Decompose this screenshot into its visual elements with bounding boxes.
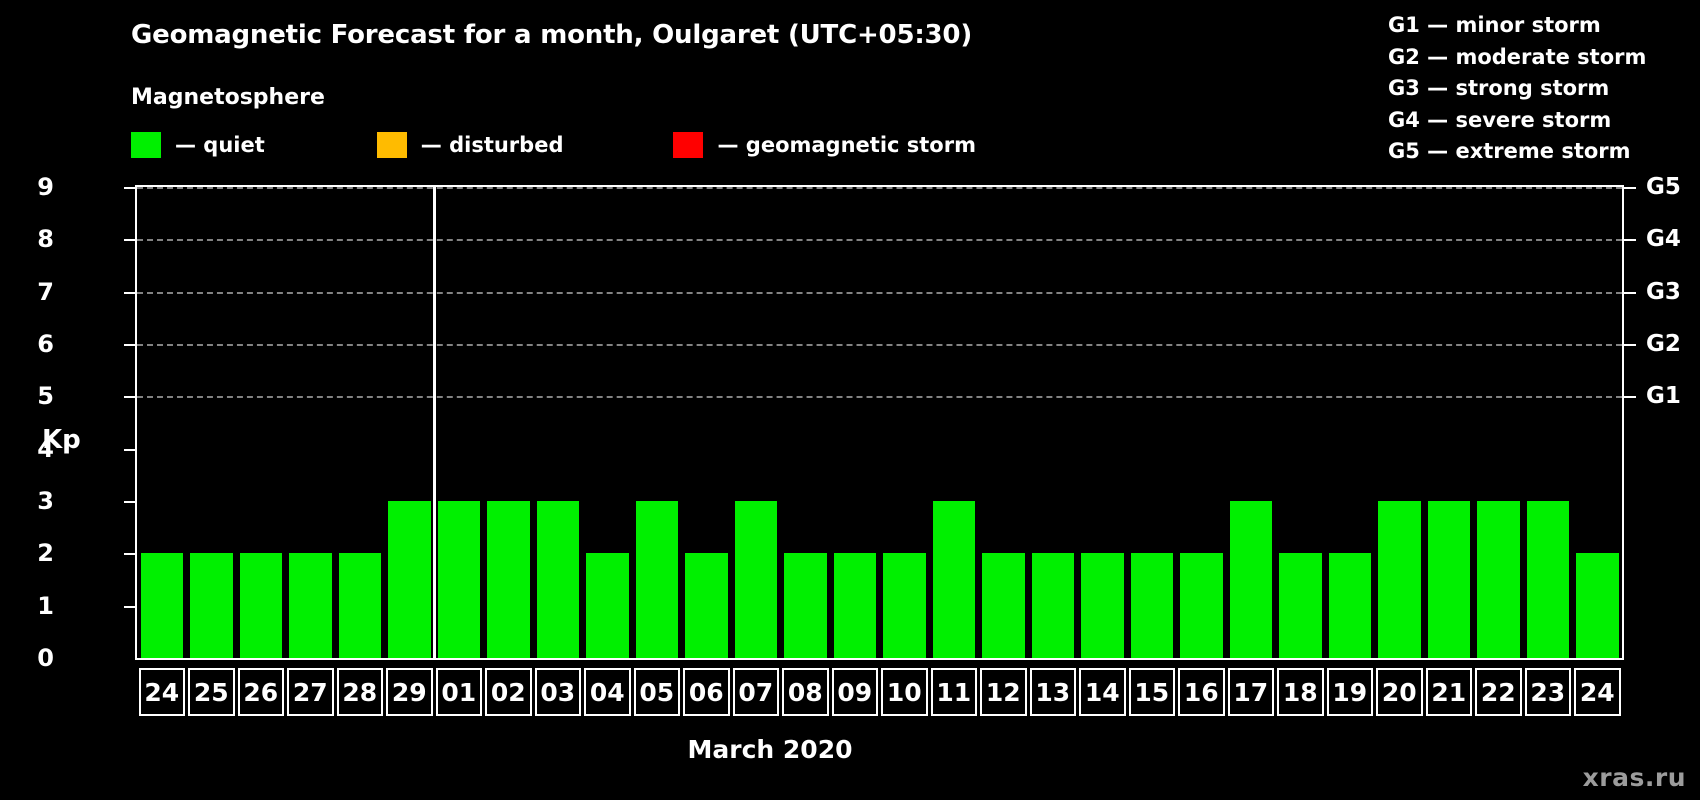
bar-11[interactable] bbox=[933, 501, 976, 658]
date-cell-1[interactable]: 25 bbox=[188, 668, 235, 716]
y-tick-mark-7 bbox=[124, 292, 135, 294]
y-tick-label-3: 3 bbox=[14, 487, 54, 515]
y-tick-mark-2 bbox=[124, 553, 135, 555]
gscale-legend-line-4: G4 — severe storm bbox=[1388, 105, 1688, 137]
bar-05[interactable] bbox=[636, 501, 679, 658]
bar-23[interactable] bbox=[1527, 501, 1570, 658]
g-tick-label-G3: G3 bbox=[1646, 279, 1681, 305]
legend-swatch-icon bbox=[377, 132, 407, 158]
bar-18[interactable] bbox=[1279, 553, 1322, 658]
y-tick-label-5: 5 bbox=[14, 382, 54, 410]
y-tick-mark-9 bbox=[124, 187, 135, 189]
bar-20[interactable] bbox=[1378, 501, 1421, 658]
bar-08[interactable] bbox=[784, 553, 827, 658]
g-tick-mark-G3 bbox=[1624, 292, 1636, 294]
date-cell-18[interactable]: 13 bbox=[1030, 668, 1077, 716]
geomagnetic-forecast-chart: Geomagnetic Forecast for a month, Oulgar… bbox=[0, 0, 1700, 800]
legend-item-2: — geomagnetic storm bbox=[673, 132, 976, 158]
date-cell-15[interactable]: 10 bbox=[881, 668, 928, 716]
legend-swatch-icon bbox=[673, 132, 703, 158]
bar-16[interactable] bbox=[1180, 553, 1223, 658]
bar-26[interactable] bbox=[240, 553, 283, 658]
date-cell-21[interactable]: 16 bbox=[1178, 668, 1225, 716]
bar-10[interactable] bbox=[883, 553, 926, 658]
bars-layer bbox=[137, 187, 1622, 658]
date-cell-5[interactable]: 29 bbox=[386, 668, 433, 716]
bar-14[interactable] bbox=[1081, 553, 1124, 658]
legend-item-0: — quiet bbox=[131, 132, 265, 158]
date-cell-13[interactable]: 08 bbox=[782, 668, 829, 716]
y-tick-label-2: 2 bbox=[14, 539, 54, 567]
g-tick-mark-G2 bbox=[1624, 344, 1636, 346]
date-cell-7[interactable]: 02 bbox=[485, 668, 532, 716]
date-cell-3[interactable]: 27 bbox=[287, 668, 334, 716]
bar-13[interactable] bbox=[1032, 553, 1075, 658]
bar-28[interactable] bbox=[339, 553, 382, 658]
x-axis-title: March 2020 bbox=[0, 735, 1700, 764]
gscale-legend-line-3: G3 — strong storm bbox=[1388, 73, 1688, 105]
bar-09[interactable] bbox=[834, 553, 877, 658]
date-cell-25[interactable]: 20 bbox=[1376, 668, 1423, 716]
g-tick-label-G1: G1 bbox=[1646, 383, 1681, 409]
bar-22[interactable] bbox=[1477, 501, 1520, 658]
legend-item-1: — disturbed bbox=[377, 132, 564, 158]
g-tick-mark-G1 bbox=[1624, 396, 1636, 398]
date-cell-12[interactable]: 07 bbox=[733, 668, 780, 716]
x-axis-date-labels: 2425262728290102030405060708091011121314… bbox=[135, 668, 1624, 716]
bar-01[interactable] bbox=[438, 501, 481, 658]
legend-item-label: — disturbed bbox=[421, 133, 564, 157]
date-cell-26[interactable]: 21 bbox=[1426, 668, 1473, 716]
bar-19[interactable] bbox=[1329, 553, 1372, 658]
y-tick-label-9: 9 bbox=[14, 173, 54, 201]
date-cell-20[interactable]: 15 bbox=[1129, 668, 1176, 716]
legend-swatch-icon bbox=[131, 132, 161, 158]
y-tick-label-4: 4 bbox=[14, 435, 54, 463]
bar-15[interactable] bbox=[1131, 553, 1174, 658]
bar-03[interactable] bbox=[537, 501, 580, 658]
date-cell-19[interactable]: 14 bbox=[1079, 668, 1126, 716]
date-cell-23[interactable]: 18 bbox=[1277, 668, 1324, 716]
date-cell-14[interactable]: 09 bbox=[832, 668, 879, 716]
y-tick-mark-8 bbox=[124, 239, 135, 241]
gscale-legend-line-2: G2 — moderate storm bbox=[1388, 42, 1688, 74]
plot-inner bbox=[137, 187, 1622, 658]
y-tick-label-8: 8 bbox=[14, 225, 54, 253]
bar-02[interactable] bbox=[487, 501, 530, 658]
magnetosphere-legend: — quiet— disturbed— geomagnetic storm bbox=[131, 130, 976, 160]
g-tick-label-G5: G5 bbox=[1646, 174, 1681, 200]
date-cell-16[interactable]: 11 bbox=[931, 668, 978, 716]
bar-25[interactable] bbox=[190, 553, 233, 658]
bar-12[interactable] bbox=[982, 553, 1025, 658]
date-cell-28[interactable]: 23 bbox=[1525, 668, 1572, 716]
date-cell-8[interactable]: 03 bbox=[535, 668, 582, 716]
date-cell-27[interactable]: 22 bbox=[1475, 668, 1522, 716]
date-cell-10[interactable]: 05 bbox=[634, 668, 681, 716]
date-cell-0[interactable]: 24 bbox=[139, 668, 186, 716]
bar-17[interactable] bbox=[1230, 501, 1273, 658]
bar-24[interactable] bbox=[141, 553, 184, 658]
y-tick-mark-3 bbox=[124, 501, 135, 503]
date-cell-2[interactable]: 26 bbox=[238, 668, 285, 716]
date-cell-22[interactable]: 17 bbox=[1228, 668, 1275, 716]
y-tick-label-6: 6 bbox=[14, 330, 54, 358]
month-separator-line bbox=[433, 187, 436, 658]
date-cell-11[interactable]: 06 bbox=[683, 668, 730, 716]
y-tick-label-0: 0 bbox=[14, 644, 54, 672]
bar-04[interactable] bbox=[586, 553, 629, 658]
y-tick-mark-1 bbox=[124, 606, 135, 608]
date-cell-17[interactable]: 12 bbox=[980, 668, 1027, 716]
y-tick-label-1: 1 bbox=[14, 592, 54, 620]
y-tick-mark-6 bbox=[124, 344, 135, 346]
date-cell-4[interactable]: 28 bbox=[337, 668, 384, 716]
date-cell-9[interactable]: 04 bbox=[584, 668, 631, 716]
g-tick-label-G2: G2 bbox=[1646, 331, 1681, 357]
date-cell-6[interactable]: 01 bbox=[436, 668, 483, 716]
g-tick-mark-G4 bbox=[1624, 239, 1636, 241]
watermark: xras.ru bbox=[1583, 763, 1686, 792]
chart-title: Geomagnetic Forecast for a month, Oulgar… bbox=[131, 20, 972, 50]
y-tick-label-7: 7 bbox=[14, 278, 54, 306]
y-tick-mark-5 bbox=[124, 396, 135, 398]
gscale-legend-line-5: G5 — extreme storm bbox=[1388, 136, 1688, 168]
legend-item-label: — geomagnetic storm bbox=[717, 133, 976, 157]
gscale-legend: G1 — minor stormG2 — moderate stormG3 — … bbox=[1388, 10, 1688, 168]
bar-27[interactable] bbox=[289, 553, 332, 658]
bar-06[interactable] bbox=[685, 553, 728, 658]
bar-24[interactable] bbox=[1576, 553, 1619, 658]
date-cell-29[interactable]: 24 bbox=[1574, 668, 1621, 716]
bar-29[interactable] bbox=[388, 501, 431, 658]
legend-heading: Magnetosphere bbox=[131, 85, 325, 110]
plot-area bbox=[135, 185, 1624, 660]
y-tick-mark-4 bbox=[124, 449, 135, 451]
gscale-legend-line-1: G1 — minor storm bbox=[1388, 10, 1688, 42]
date-cell-24[interactable]: 19 bbox=[1327, 668, 1374, 716]
legend-item-label: — quiet bbox=[175, 133, 265, 157]
bar-07[interactable] bbox=[735, 501, 778, 658]
g-tick-mark-G5 bbox=[1624, 187, 1636, 189]
bar-21[interactable] bbox=[1428, 501, 1471, 658]
g-tick-label-G4: G4 bbox=[1646, 226, 1681, 252]
